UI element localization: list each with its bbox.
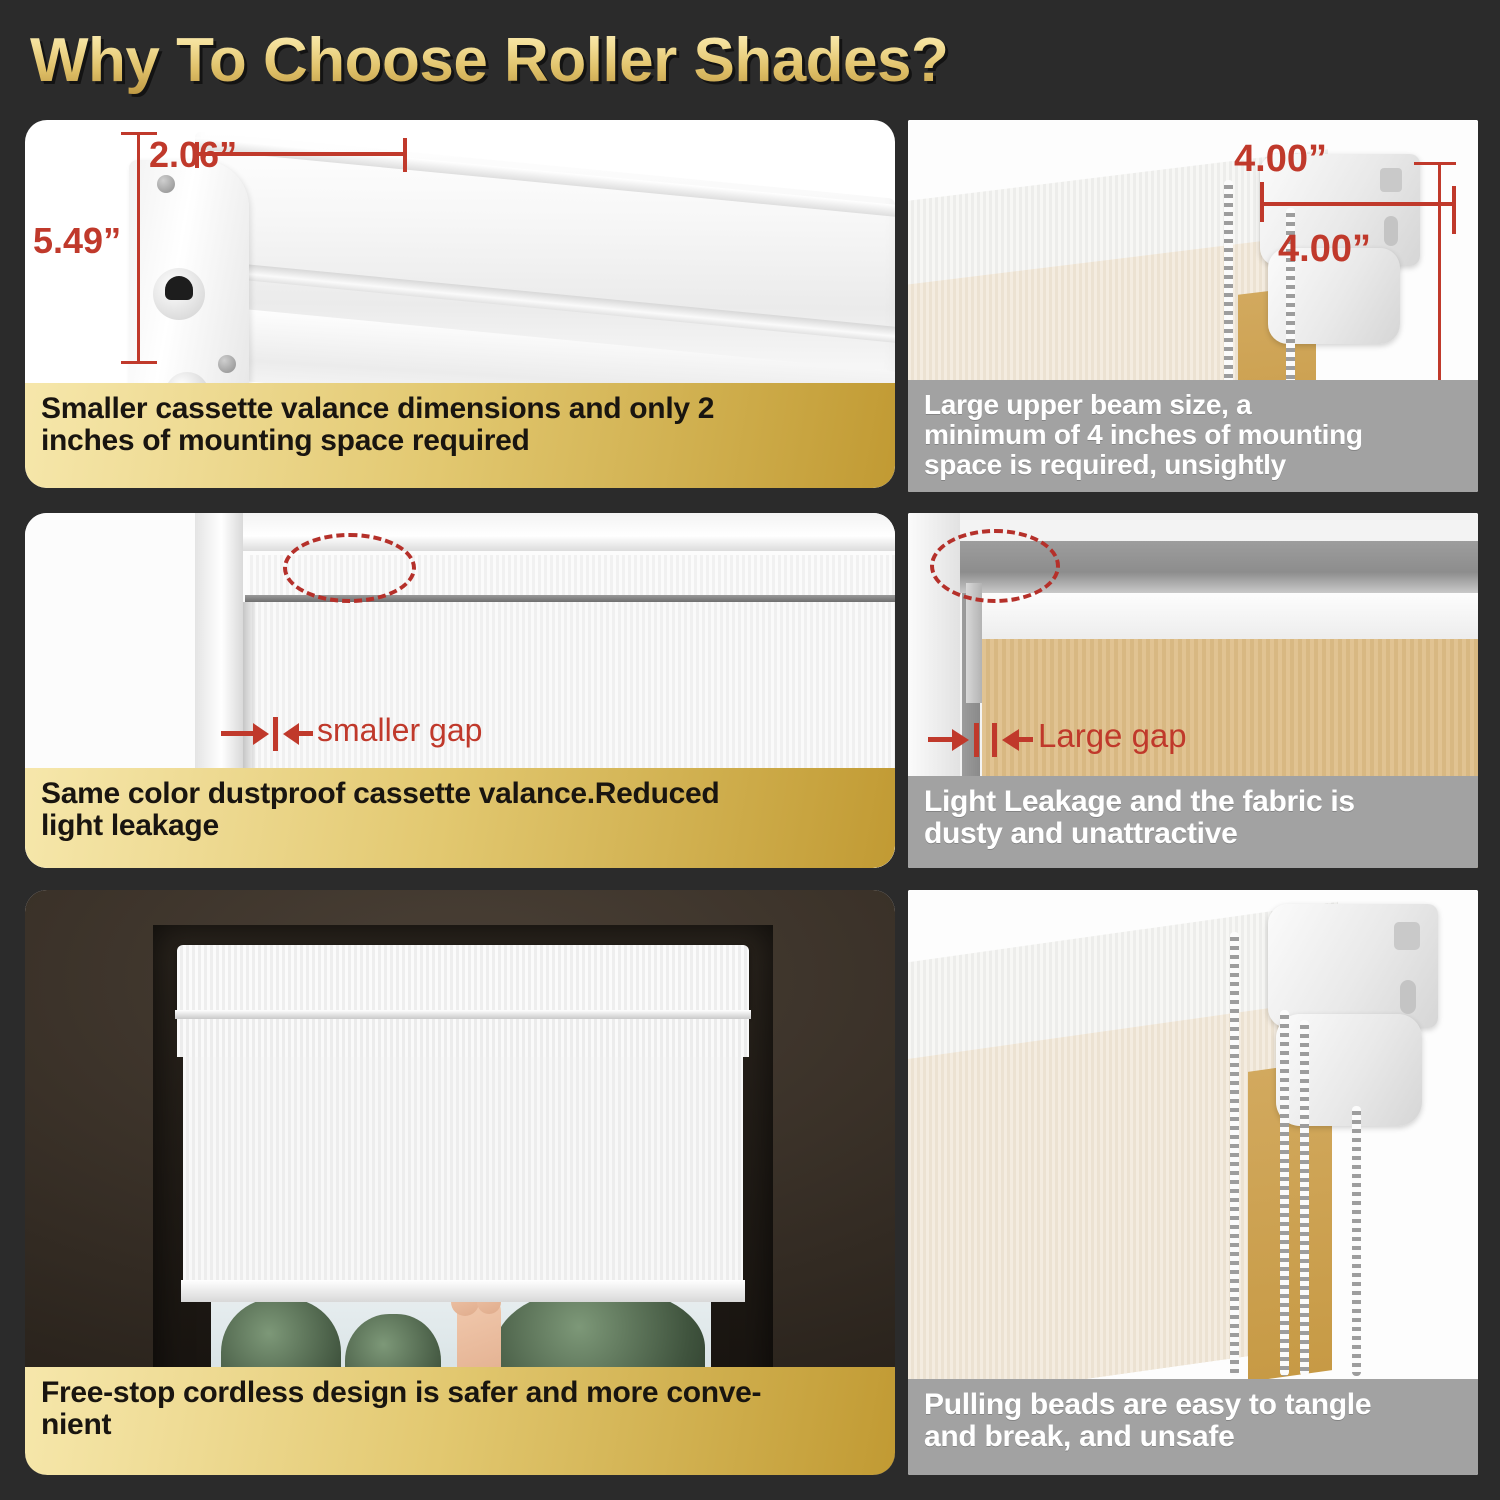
panel-smaller-gap: smaller gap Same color dustproof cassett… [25,513,895,868]
bracket-slot-b [1400,980,1416,1014]
beam-width-label: 4.00” [1234,138,1327,181]
caption-line: minimum of 4 inches of mounting [924,420,1462,450]
gap-arrow-left-head [253,723,269,745]
valance-screw-top [157,175,175,193]
infographic-root: Why To Choose Roller Shades? Why To Choo… [0,0,1500,1500]
gap-highlight-ellipse [283,533,416,603]
panel-pulling-beads: Pulling beads are easy to tangle and bre… [908,890,1478,1475]
caption-line: Light Leakage and the fabric is [924,786,1462,818]
caption-line: Smaller cassette valance dimensions and … [41,393,879,425]
height-dimension-tick-bottom [121,361,157,364]
page-title: Why To Choose Roller Shades? [30,22,1130,100]
panel-smaller-cassette-valance: 2.06” 5.49” Smaller cassette valance dim… [25,120,895,488]
bracket-slot-b [1384,216,1398,246]
caption-line: dusty and unattractive [924,818,1462,850]
panel-caption-pulling-beads: Pulling beads are easy to tangle and bre… [908,1379,1478,1475]
caption-line: Large upper beam size, a [924,390,1462,420]
gap-arrow-right-head [1002,729,1019,751]
shade-fabric-white [183,1057,743,1287]
panel-caption-smaller-gap: Same color dustproof cassette valance.Re… [25,768,895,868]
beam-width-tick-left [1260,182,1264,222]
caption-line: inches of mounting space required [41,425,879,457]
gap-arrow-right-shaft [299,731,313,736]
height-dimension-label: 5.49” [33,220,121,262]
shade-upper-band [177,1019,749,1057]
gap-marker-bar [273,717,278,751]
caption-line: Same color dustproof cassette valance.Re… [41,778,879,810]
gap-arrow-right-shaft [1019,737,1033,742]
panel-caption-large-beam: Large upper beam size, a minimum of 4 in… [908,380,1478,492]
bead-chain-left [1230,932,1239,1376]
caption-line: and break, and unsafe [924,1421,1462,1453]
bead-chain-right [1352,1106,1361,1376]
valance-clutch-knob [153,268,205,320]
gap-arrow-right-head [283,723,299,745]
cassette-valance [177,945,749,1015]
gap-arrow-left-head [952,729,969,751]
bracket-slot-a [1394,922,1420,950]
panel-caption-cordless: Free-stop cordless design is safer and m… [25,1367,895,1475]
gap-arrow-left-shaft [928,737,954,742]
caption-line: nient [41,1409,879,1441]
valance-screw-middle [218,355,236,373]
height-dimension-line [137,132,140,364]
caption-line: light leakage [41,810,879,842]
width-dimension-tick-right [403,138,407,172]
valance-rail [175,1010,751,1019]
beam-height-tick-top [1414,162,1456,165]
gap-highlight-ellipse [930,529,1060,603]
panel-large-upper-beam: 4.00” 4.00” Large upper beam size, a min… [908,120,1478,492]
bead-chain-middle-2 [1300,1020,1309,1376]
caption-line: Free-stop cordless design is safer and m… [41,1377,879,1409]
panel-large-gap: Large gap Light Leakage and the fabric i… [908,513,1478,868]
beam-width-tick-right [1452,186,1456,234]
beam-height-label: 4.00” [1278,228,1371,271]
panel-caption-smaller-cassette: Smaller cassette valance dimensions and … [25,383,895,488]
caption-line: space is required, unsightly [924,450,1462,480]
caption-line: Pulling beads are easy to tangle [924,1389,1462,1421]
gap-marker-bar-a [974,723,979,757]
shade-bottom-bar [181,1280,745,1302]
large-gap-label: Large gap [1038,717,1187,755]
panel-caption-large-gap: Light Leakage and the fabric is dusty an… [908,776,1478,868]
gap-marker-bar-b [992,723,997,757]
width-dimension-label: 2.06” [149,134,237,176]
beam-width-dimension-line [1260,202,1456,206]
bead-chain-middle [1280,1010,1289,1376]
panel-cordless-design: Free-stop cordless design is safer and m… [25,890,895,1475]
mounting-bracket-lower [1276,1014,1422,1126]
gap-arrow-left-shaft [221,731,255,736]
smaller-gap-label: smaller gap [317,712,482,749]
white-band [966,593,1478,639]
bracket-slot-a [1380,168,1402,192]
height-dimension-tick-top [121,132,157,135]
